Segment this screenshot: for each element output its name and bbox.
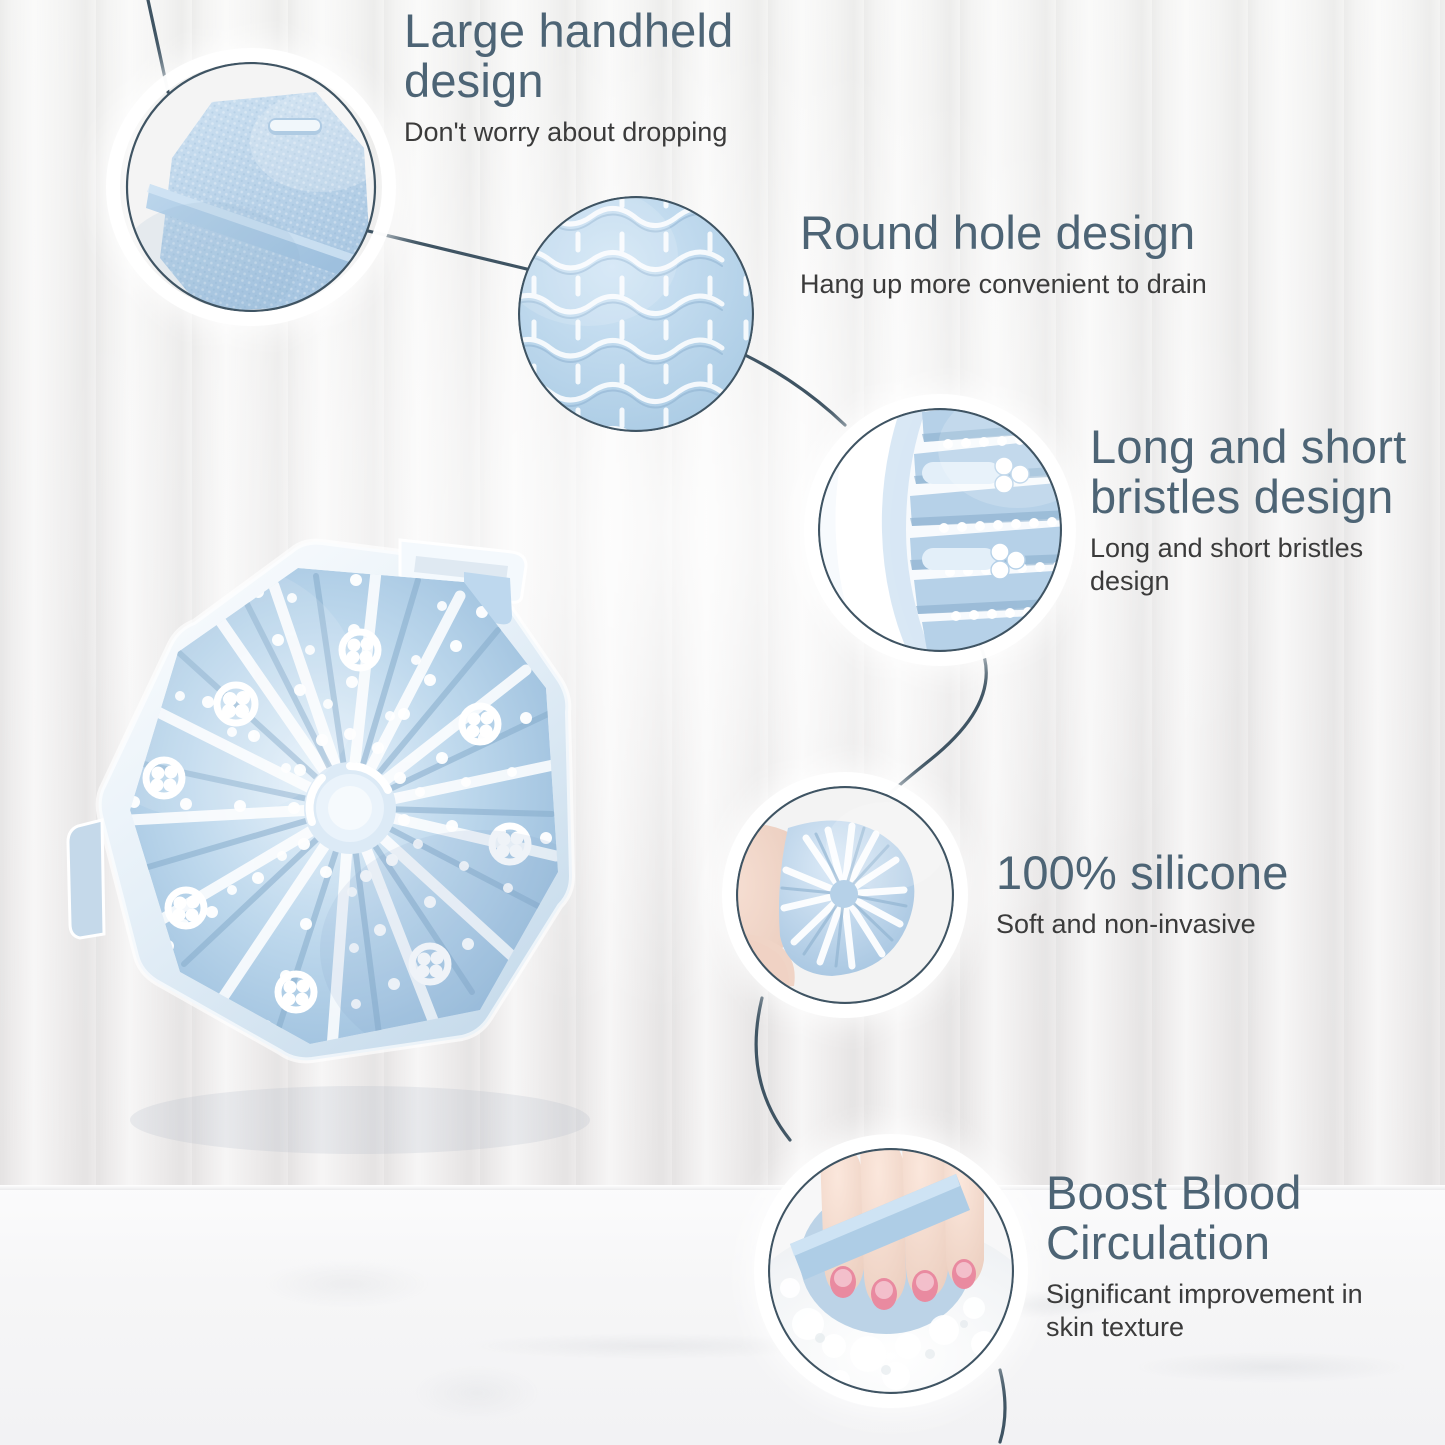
connector-4-5 bbox=[756, 998, 790, 1140]
callout-image-boost-blood-circulation bbox=[768, 1148, 1014, 1394]
connector-5-tail bbox=[1000, 1370, 1005, 1442]
product-infographic: Large handheld design Don't worry about … bbox=[0, 0, 1445, 1445]
feature-text-boost-blood-circulation: Boost Blood Circulation Significant impr… bbox=[1046, 1168, 1396, 1344]
feature-text-long-and-short-bristles: Long and short bristles design Long and … bbox=[1090, 422, 1420, 598]
feature-text-large-handheld-design: Large handheld design Don't worry about … bbox=[404, 6, 834, 149]
feature-title-1: Large handheld design bbox=[404, 6, 834, 106]
feature-title-5: Boost Blood Circulation bbox=[1046, 1168, 1396, 1268]
callout-image-round-hole-design bbox=[518, 196, 754, 432]
main-product-image bbox=[60, 520, 680, 1180]
feature-text-100-percent-silicone: 100% silicone Soft and non-invasive bbox=[996, 848, 1326, 941]
feature-subtitle-1: Don't worry about dropping bbox=[404, 116, 834, 149]
callout-image-large-handheld-design bbox=[120, 62, 382, 312]
callout-image-100-percent-silicone bbox=[736, 786, 954, 1004]
feature-subtitle-5: Significant improvement in skin texture bbox=[1046, 1278, 1396, 1344]
feature-title-4: 100% silicone bbox=[996, 848, 1326, 898]
feature-subtitle-2: Hang up more convenient to drain bbox=[800, 268, 1270, 301]
connector-1-tail bbox=[148, 0, 168, 92]
feature-text-round-hole-design: Round hole design Hang up more convenien… bbox=[800, 208, 1270, 301]
connector-2-3 bbox=[745, 355, 845, 425]
feature-subtitle-3: Long and short bristles design bbox=[1090, 532, 1420, 598]
feature-subtitle-4: Soft and non-invasive bbox=[996, 908, 1326, 941]
feature-title-2: Round hole design bbox=[800, 208, 1270, 258]
feature-title-3: Long and short bristles design bbox=[1090, 422, 1420, 522]
callout-image-long-and-short-bristles bbox=[818, 408, 1062, 652]
